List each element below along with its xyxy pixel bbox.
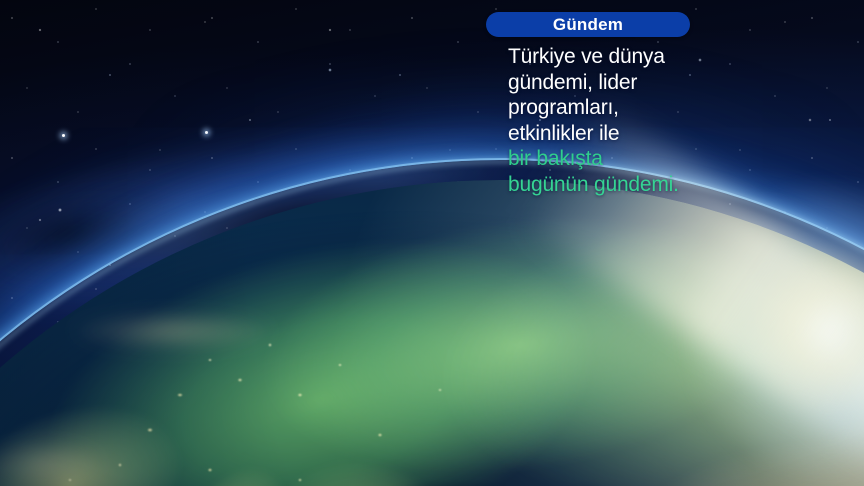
- promo-block: Gündem Türkiye ve dünya gündemi, lider p…: [486, 12, 716, 197]
- bright-star-icon: [62, 134, 65, 137]
- promo-text: Türkiye ve dünya gündemi, lider programl…: [486, 44, 716, 197]
- screenshot-stage: Gündem Türkiye ve dünya gündemi, lider p…: [0, 0, 864, 486]
- promo-line-4: etkinlikler ile: [508, 121, 716, 147]
- promo-line-6: bugünün gündemi.: [508, 172, 716, 198]
- promo-line-3: programları,: [508, 95, 716, 121]
- gundem-badge[interactable]: Gündem: [486, 12, 690, 37]
- promo-line-5: bir bakışta: [508, 146, 716, 172]
- promo-line-1: Türkiye ve dünya: [508, 44, 716, 70]
- bright-star-icon: [205, 131, 208, 134]
- promo-line-2: gündemi, lider: [508, 70, 716, 96]
